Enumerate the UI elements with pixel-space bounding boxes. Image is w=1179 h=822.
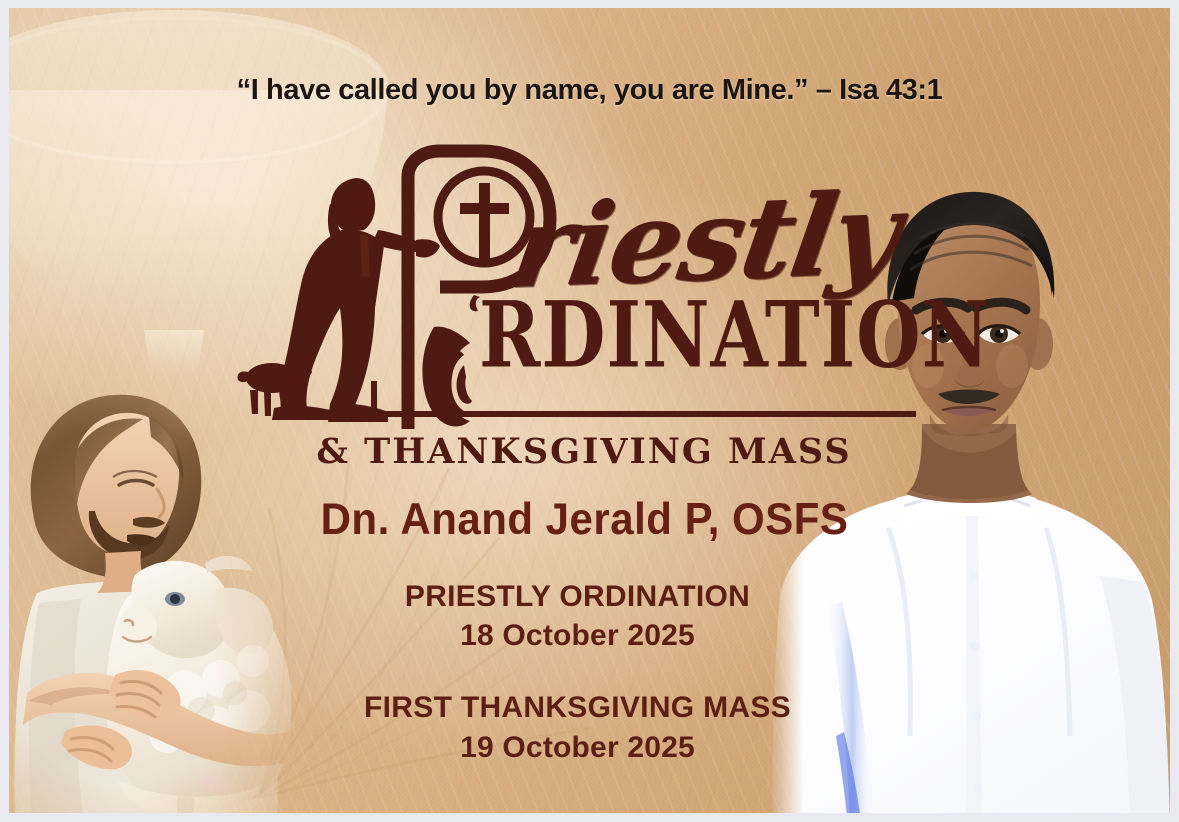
event-date-thanksgiving: 19 October 2025 bbox=[9, 728, 1146, 767]
scripture-quote: “I have called you by name, you are Mine… bbox=[9, 74, 1170, 107]
logo-gothic-word: RDINATION bbox=[479, 291, 990, 382]
ordination-invitation-card: “I have called you by name, you are Mine… bbox=[9, 8, 1170, 813]
event-date-ordination: 18 October 2025 bbox=[9, 616, 1146, 655]
event-details: PRIESTLY ORDINATION 18 October 2025 FIRS… bbox=[9, 578, 1170, 767]
event-title-ordination: PRIESTLY ORDINATION bbox=[9, 578, 1146, 616]
card-frame: “I have called you by name, you are Mine… bbox=[0, 0, 1179, 822]
logo-horizontal-rule bbox=[371, 411, 916, 417]
celebrant-name: Dn. Anand Jerald P, OSFS bbox=[9, 494, 1170, 545]
event-title-thanksgiving: FIRST THANKSGIVING MASS bbox=[9, 689, 1146, 727]
latin-cross-icon bbox=[460, 183, 509, 263]
ordination-logo-lockup: riestly RDINATION & THANKSGIVING MASS bbox=[159, 143, 919, 488]
event-spacer bbox=[9, 655, 1146, 689]
logo-subtitle: & THANKSGIVING MASS bbox=[159, 431, 919, 472]
